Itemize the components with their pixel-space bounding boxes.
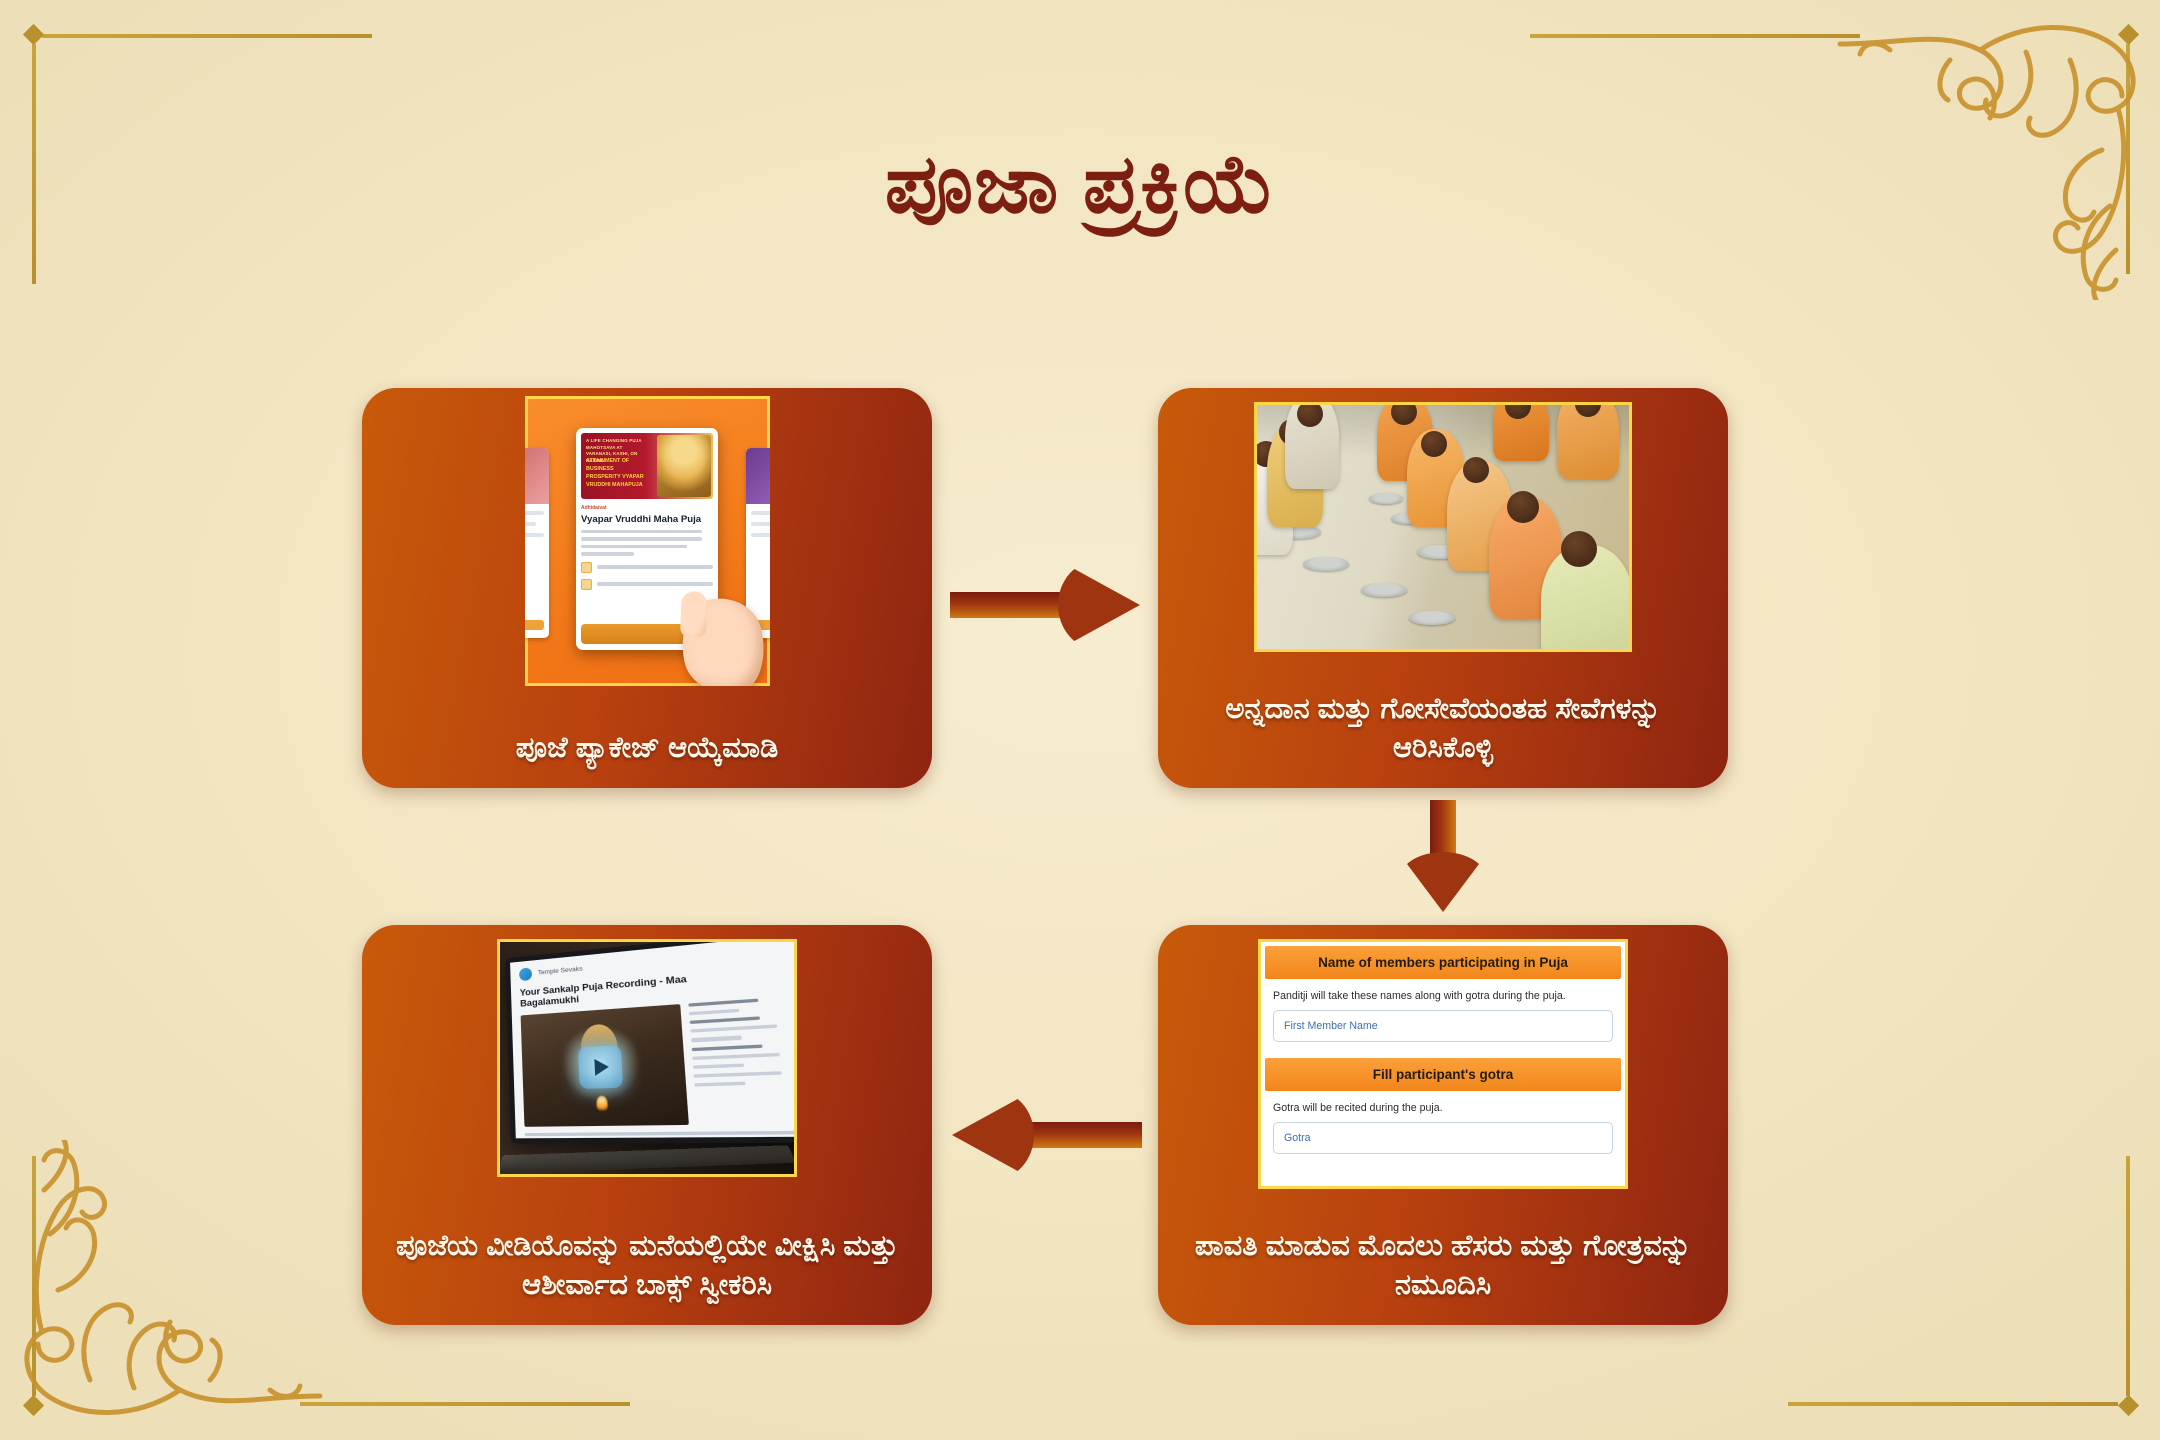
- placeholder-line: [751, 522, 770, 526]
- side-card-button: [525, 620, 544, 630]
- puja-tag: Adhidaivat: [581, 505, 713, 511]
- placeholder-line: [525, 522, 536, 526]
- first-member-name-input[interactable]: First Member Name: [1273, 1010, 1613, 1042]
- diamond-terminator-icon: [2118, 1395, 2139, 1416]
- annadana-photo: [1257, 405, 1629, 649]
- placeholder-line: [581, 530, 702, 533]
- step-2-caption: ಅನ್ನದಾನ ಮತ್ತು ಗೋಸೇವೆಯಂತಹ ಸೇವೆಗಳನ್ನು ಆರಿಸ…: [1158, 690, 1728, 768]
- placeholder-line: [689, 1009, 739, 1016]
- placeholder-line: [525, 1141, 601, 1144]
- side-card-image: [746, 448, 770, 504]
- deity-image: [657, 435, 711, 497]
- placeholder-line: [694, 1082, 745, 1087]
- email-body: [521, 996, 797, 1127]
- members-section-heading: Name of members participating in Puja: [1265, 946, 1621, 979]
- temple-sevaks-logo-icon: [519, 967, 532, 981]
- poster-canvas: ಪೂಜಾ ಪ್ರಕ್ರಿಯೆ A LIFE C: [0, 0, 2160, 1440]
- arrow-step2-to-step4-icon: [1398, 800, 1488, 915]
- placeholder-line: [581, 545, 687, 548]
- video-thumbnail[interactable]: [521, 1004, 689, 1127]
- border-rule-top-left: [42, 34, 372, 38]
- diamond-terminator-icon: [23, 24, 44, 45]
- members-section-hint: Panditji will take these names along wit…: [1265, 979, 1621, 1010]
- booking-form: Name of members participating in Puja Pa…: [1261, 942, 1625, 1186]
- puja-name: Vyapar Vruddhi Maha Puja: [581, 514, 713, 525]
- placeholder-line: [751, 511, 770, 515]
- step-card-4[interactable]: Name of members participating in Puja Pa…: [1158, 925, 1728, 1325]
- step-4-thumbnail: Name of members participating in Puja Pa…: [1258, 939, 1628, 1189]
- side-card-image: [525, 448, 549, 504]
- arrow-step4-to-step3-icon: [952, 1090, 1142, 1180]
- filigree-corner-icon: [0, 1140, 330, 1440]
- gotra-section-hint: Gotra will be recited during the puja.: [1265, 1091, 1621, 1122]
- border-rule-bottom-right: [1788, 1402, 2118, 1406]
- email-footer: [525, 1130, 797, 1143]
- page-title: ಪೂಜಾ ಪ್ರಕ್ರಿಯೆ: [0, 140, 2160, 230]
- placeholder-line: [751, 533, 770, 537]
- banner-title: ATTAINMENT OF BUSINESS PROSPERITY VYAPAR…: [586, 457, 647, 489]
- step-4-caption: ಪಾವತಿ ಮಾಡುವ ಮೊದಲು ಹೆಸರು ಮತ್ತು ಗೋತ್ರವನ್ನು…: [1158, 1227, 1728, 1305]
- arrow-head: [1398, 852, 1488, 912]
- border-rule-bottom-left: [300, 1402, 630, 1406]
- gotra-section-heading: Fill participant's gotra: [1265, 1058, 1621, 1091]
- placeholder-line: [525, 533, 544, 537]
- placeholder-line: [692, 1052, 779, 1059]
- placeholder-line: [525, 1130, 797, 1136]
- placeholder-line: [597, 565, 713, 568]
- step-card-3[interactable]: Temple Sevaks Your Sankalp Puja Recordin…: [362, 925, 932, 1325]
- placeholder-line: [581, 537, 702, 540]
- step-3-caption: ಪೂಜೆಯ ವೀಡಿಯೊವನ್ನು ಮನೆಯಲ್ಲಿಯೇ ವೀಕ್ಷಿಸಿ ಮತ…: [362, 1227, 932, 1305]
- laptop-screen: Temple Sevaks Your Sankalp Puja Recordin…: [505, 939, 797, 1144]
- gotra-input[interactable]: Gotra: [1273, 1122, 1613, 1154]
- placeholder-line: [694, 1071, 782, 1078]
- calendar-icon: [581, 579, 592, 590]
- puja-detail-row: [581, 579, 713, 590]
- arrow-shaft: [1022, 1122, 1142, 1148]
- placeholder-line: [581, 552, 634, 555]
- step-1-caption: ಪೂಜೆ ಪ್ಯಾಕೇಜ್ ಆಯ್ಕೆಮಾಡಿ: [500, 729, 794, 768]
- step-1-thumbnail: A LIFE CHANGING PUJA MAHOTSAVA AT VARANA…: [525, 396, 770, 686]
- border-rule-right-bottom: [2126, 1156, 2130, 1396]
- index-finger: [679, 591, 707, 638]
- step-3-thumbnail: Temple Sevaks Your Sankalp Puja Recordin…: [497, 939, 797, 1177]
- placeholder-line: [525, 511, 544, 515]
- placeholder-line: [688, 998, 758, 1006]
- puja-detail-row: [581, 562, 713, 573]
- play-button-icon[interactable]: [578, 1045, 623, 1089]
- arrow-head: [952, 1090, 1034, 1180]
- temple-icon: [581, 562, 592, 573]
- puja-banner: A LIFE CHANGING PUJA MAHOTSAVA AT VARANA…: [581, 433, 713, 499]
- email-details-column: [688, 996, 797, 1125]
- placeholder-line: [597, 582, 713, 585]
- placeholder-line: [690, 1016, 761, 1024]
- step-card-2[interactable]: ಅನ್ನದಾನ ಮತ್ತು ಗೋಸೇವೆಯಂತಹ ಸೇವೆಗಳನ್ನು ಆರಿಸ…: [1158, 388, 1728, 788]
- side-card-left: [525, 448, 549, 638]
- email-sender: Temple Sevaks: [538, 966, 583, 977]
- arrow-head: [1058, 560, 1140, 650]
- border-rule-top-right: [1530, 34, 1860, 38]
- puja-description: [581, 530, 713, 556]
- step-card-1[interactable]: A LIFE CHANGING PUJA MAHOTSAVA AT VARANA…: [362, 388, 932, 788]
- step-2-thumbnail: [1254, 402, 1632, 652]
- arrow-step1-to-step2-icon: [950, 560, 1140, 650]
- placeholder-line: [693, 1063, 744, 1069]
- placeholder-line: [691, 1036, 741, 1042]
- arrow-shaft: [950, 592, 1070, 618]
- placeholder-line: [690, 1025, 777, 1033]
- oil-lamp: [596, 1095, 608, 1110]
- placeholder-line: [692, 1044, 763, 1051]
